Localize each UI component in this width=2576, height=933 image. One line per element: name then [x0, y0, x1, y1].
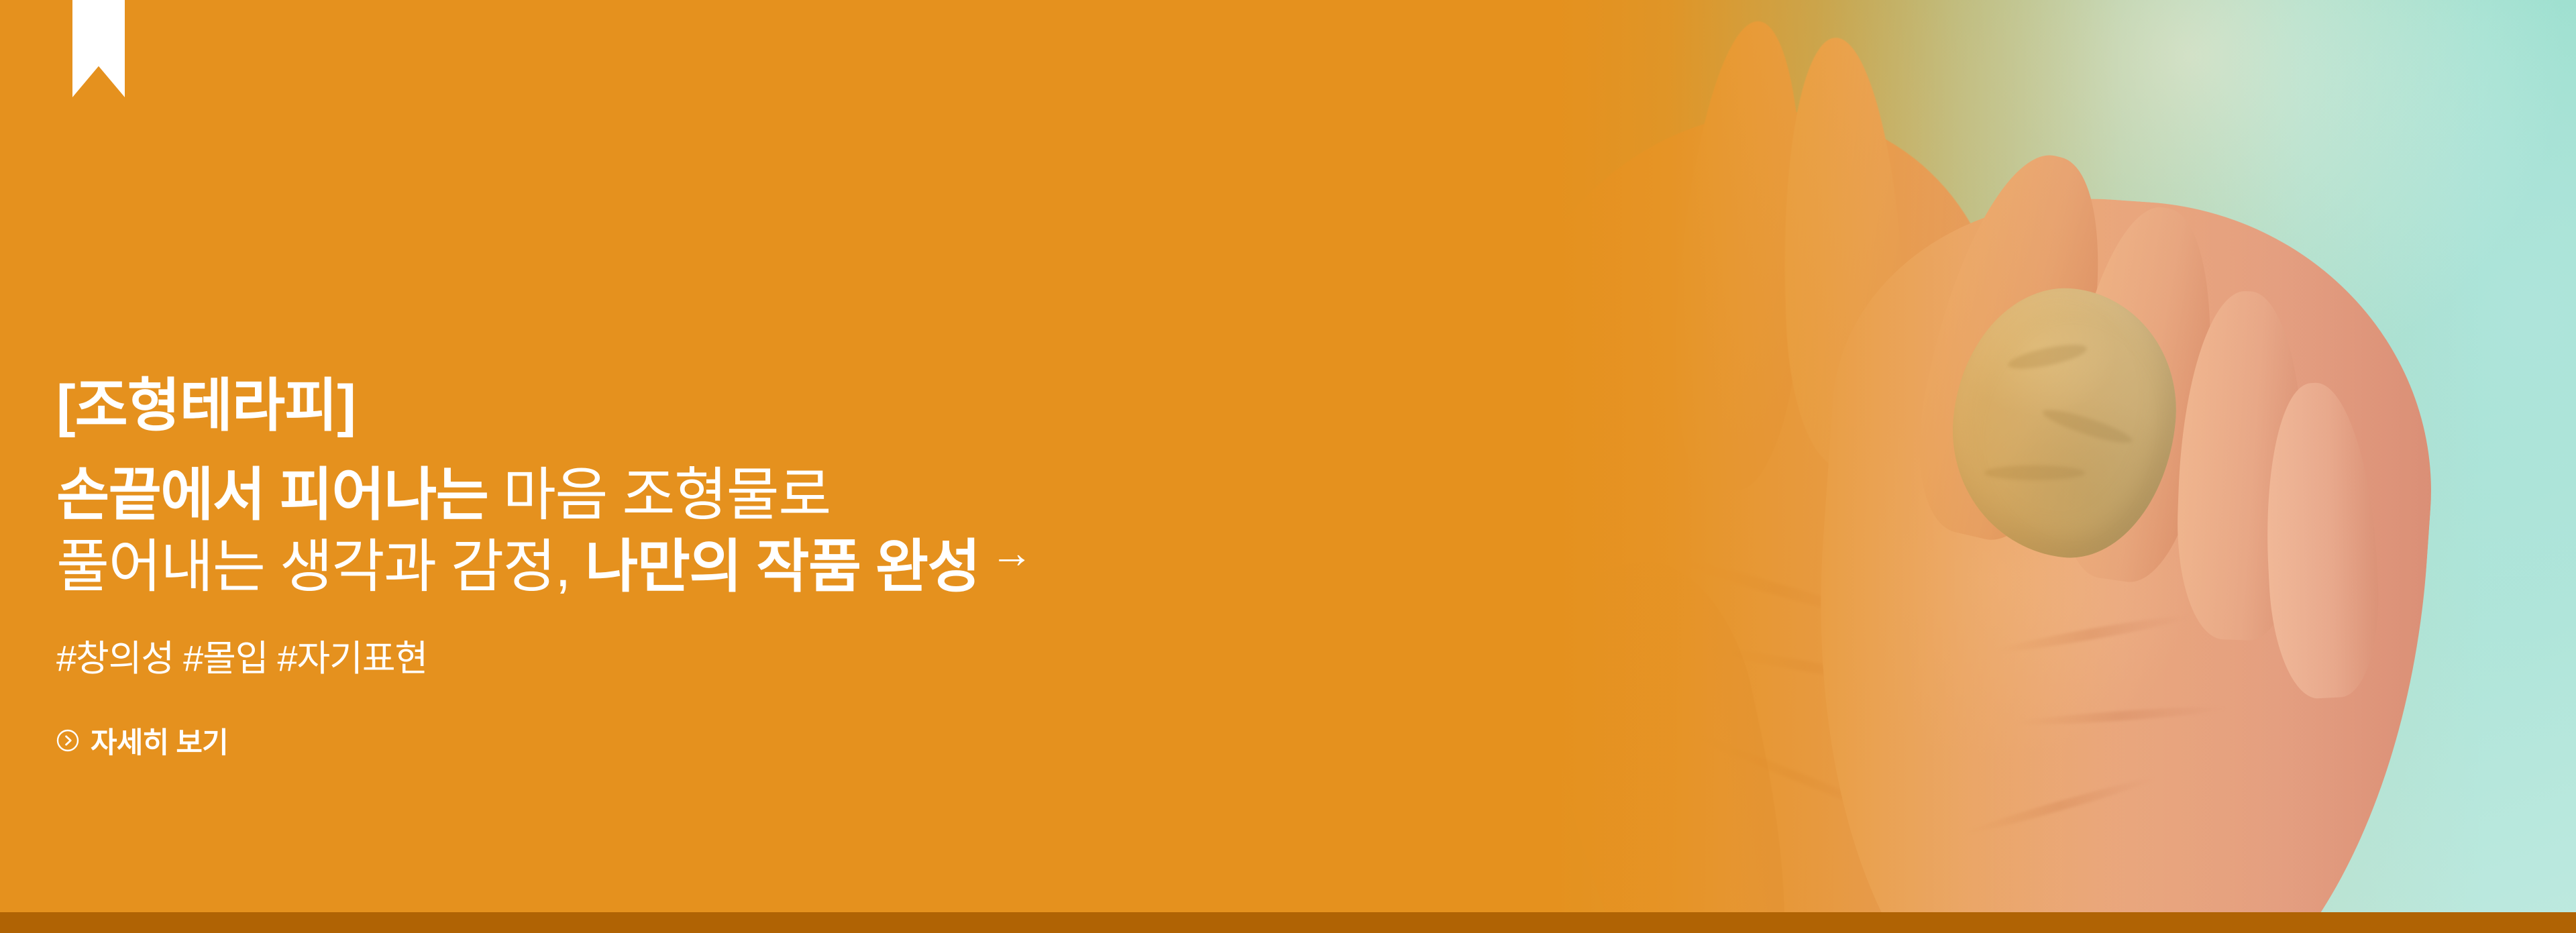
photo-orange-fade-overlay: [1442, 0, 2576, 933]
promo-banner[interactable]: [조형테라피] 손끝에서 피어나는 마음 조형물로 풀어내는 생각과 감정, 나…: [0, 0, 2576, 933]
arrow-right-icon: →: [990, 531, 1032, 574]
headline-line1-regular: 마음 조형물로: [488, 463, 830, 527]
bookmark-ribbon-icon: [72, 0, 125, 97]
headline-line1-strong: 손끝에서 피어나는: [56, 463, 488, 527]
hands-holding-clay-photo: [1442, 0, 2576, 933]
detail-view-label: 자세히 보기: [91, 720, 228, 761]
headline-line2-strong: 나만의 작품 완성: [585, 535, 979, 599]
banner-headline-line-1: 손끝에서 피어나는 마음 조형물로: [56, 459, 1398, 531]
banner-eyebrow: [조형테라피]: [56, 376, 1398, 437]
banner-headline-line-2: 풀어내는 생각과 감정, 나만의 작품 완성→: [56, 531, 1398, 603]
detail-view-button[interactable]: 자세히 보기: [56, 720, 228, 761]
headline-line2-regular: 풀어내는 생각과 감정,: [56, 535, 585, 599]
bottom-accent-bar: [0, 912, 2576, 933]
banner-hashtags: #창의성 #몰입 #자기표현: [56, 637, 1398, 681]
banner-copy-block: [조형테라피] 손끝에서 피어나는 마음 조형물로 풀어내는 생각과 감정, 나…: [56, 376, 1398, 761]
circle-chevron-right-icon: [56, 729, 79, 752]
